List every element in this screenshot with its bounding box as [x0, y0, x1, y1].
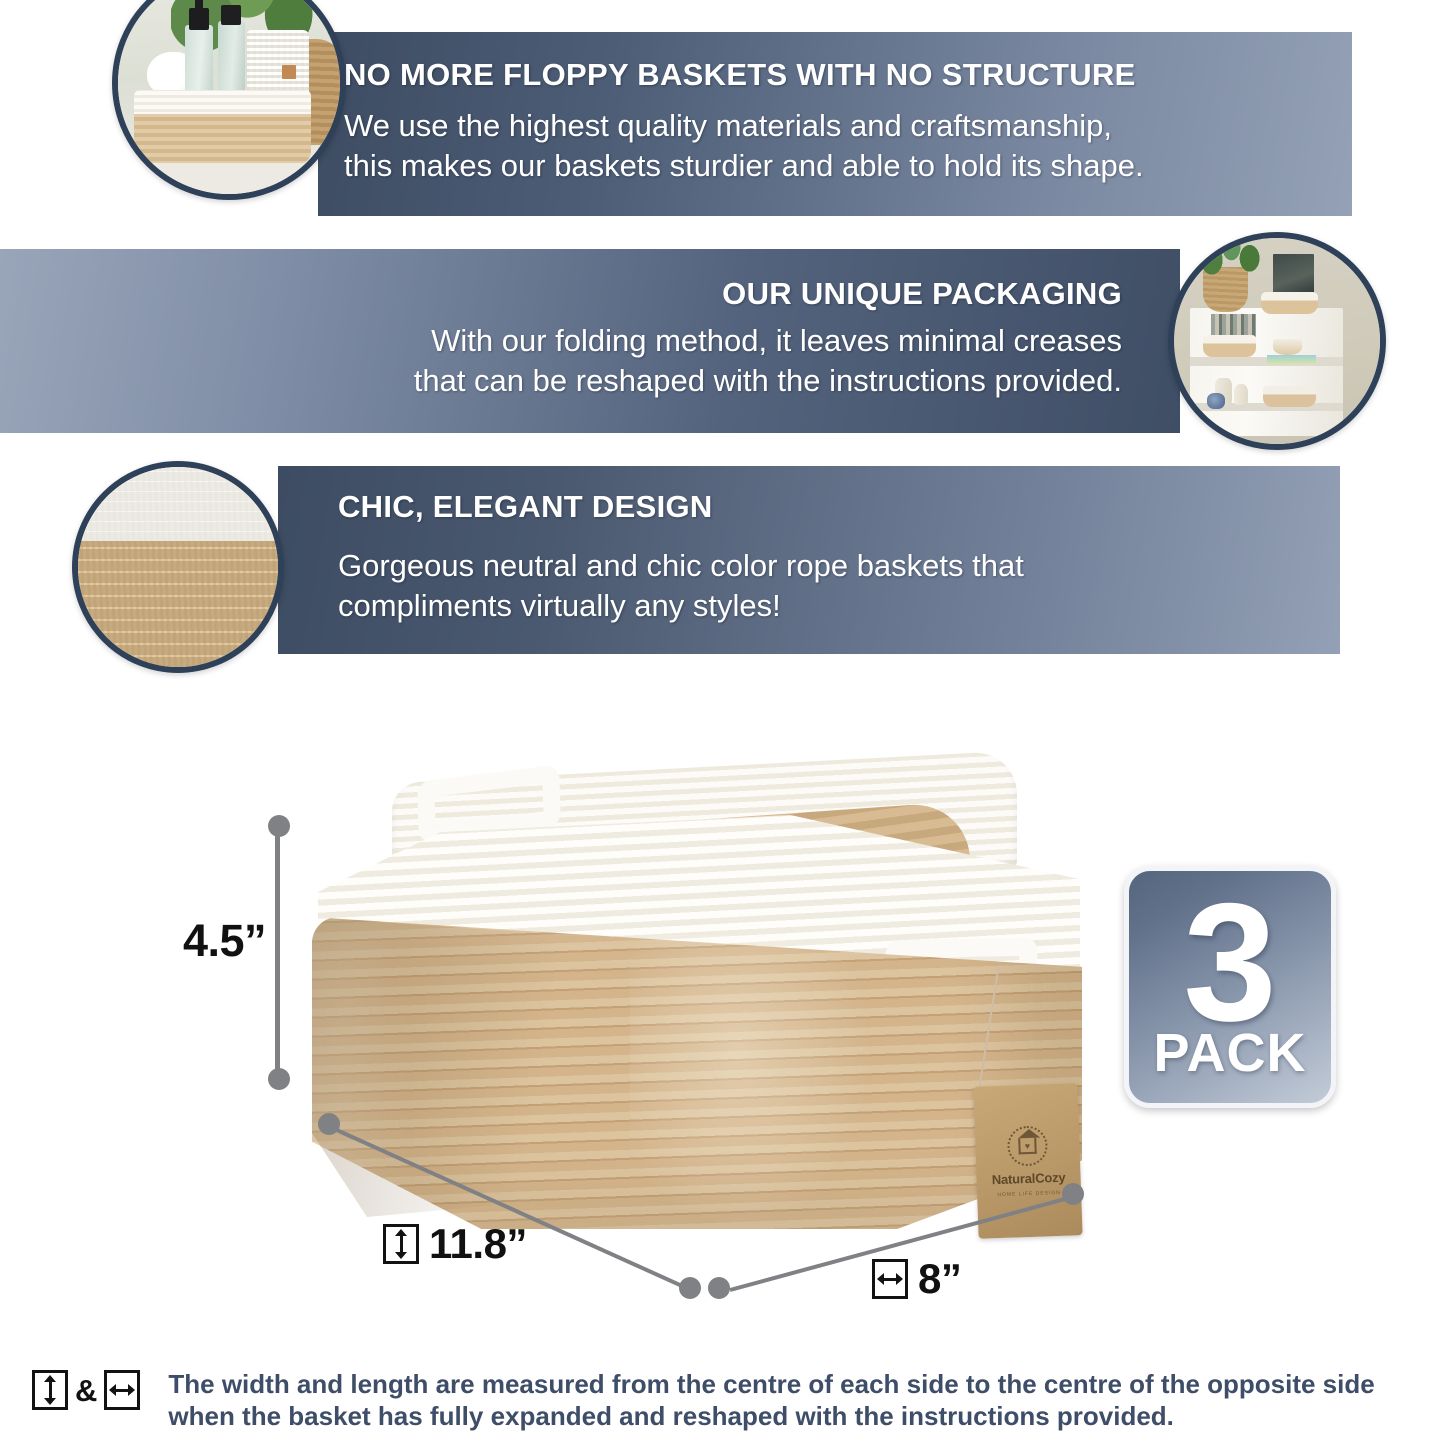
feature-banner-3: CHIC, ELEGANT DESIGN Gorgeous neutral an… — [278, 466, 1340, 654]
feature-3-title: CHIC, ELEGANT DESIGN — [338, 490, 713, 524]
brand-logo-icon: ♥ — [1007, 1125, 1048, 1166]
pack-count-number: 3 — [1183, 894, 1276, 1032]
height-label: 4.5” — [183, 915, 266, 967]
length-endpoint-right — [679, 1277, 701, 1299]
feature-banners-section: NO MORE FLOPPY BASKETS WITH NO STRUCTURE… — [0, 0, 1445, 675]
vertical-arrow-icon — [383, 1224, 419, 1264]
feature-3-body-line-2: compliments virtually any styles! — [338, 586, 1024, 626]
small-rope-bowl — [1273, 339, 1302, 355]
width-label: 8” — [872, 1255, 961, 1303]
height-endpoint-top — [268, 815, 290, 837]
white-rope-section — [78, 467, 278, 541]
bathroom-basket-photo — [112, 0, 346, 200]
feature-2-body-line-2: that can be reshaped with the instructio… — [414, 361, 1122, 401]
rope-texture-photo — [72, 461, 284, 673]
stacked-magazines — [1267, 355, 1316, 363]
shelf-styling-photo — [1168, 232, 1386, 450]
counter-surface — [118, 163, 340, 194]
hang-tag: ♥ NaturalCozy HOME LIFE DESIGN — [973, 1083, 1082, 1239]
feature-3-body: Gorgeous neutral and chic color rope bas… — [338, 546, 1024, 625]
feature-2-body: With our folding method, it leaves minim… — [414, 321, 1122, 400]
disclaimer-line-1: The width and length are measured from t… — [168, 1368, 1374, 1400]
feature-1-title: NO MORE FLOPPY BASKETS WITH NO STRUCTURE — [344, 58, 1136, 92]
books-in-basket — [1211, 314, 1256, 337]
soap-dispenser-bottle — [185, 25, 214, 96]
basket-body-shadow — [312, 917, 562, 1217]
basket-body-highlight — [630, 935, 870, 1225]
rope-basket-top-shelf — [1261, 292, 1319, 315]
width-value: 8” — [918, 1255, 961, 1303]
height-endpoint-bottom — [268, 1068, 290, 1090]
feature-banner-1: NO MORE FLOPPY BASKETS WITH NO STRUCTURE… — [318, 32, 1352, 216]
white-waffle-towel — [247, 30, 309, 97]
length-value: 11.8” — [429, 1220, 527, 1268]
lotion-bottle-cap — [221, 5, 241, 25]
house-icon: ♥ — [1018, 1137, 1037, 1154]
pack-count-badge: 3 PACK — [1124, 866, 1336, 1108]
tan-rope-section — [78, 541, 278, 667]
feature-1-body-line-1: We use the highest quality materials and… — [344, 106, 1144, 146]
basket-white-rim — [134, 90, 312, 117]
brand-tagline: HOME LIFE DESIGN — [997, 1189, 1061, 1197]
brand-name: NaturalCozy — [992, 1169, 1066, 1187]
feature-2-body-line-1: With our folding method, it leaves minim… — [414, 321, 1122, 361]
towel-leather-tag — [282, 65, 295, 78]
soap-pump — [195, 0, 204, 16]
height-measurement-line — [275, 827, 280, 1077]
plant-leaves — [1195, 234, 1265, 279]
blue-patterned-jug — [1207, 393, 1226, 409]
vertical-arrow-icon — [32, 1370, 68, 1410]
length-label: 11.8” — [383, 1220, 527, 1268]
horizontal-arrow-icon — [872, 1259, 908, 1299]
ampersand-label: & — [75, 1375, 97, 1406]
feature-2-title: OUR UNIQUE PACKAGING — [722, 277, 1122, 311]
lotion-bottle — [218, 21, 245, 96]
horizontal-arrow-icon — [104, 1370, 140, 1410]
rope-basket-bottom-shelf — [1263, 386, 1317, 407]
disclaimer-line-2: when the basket has fully expanded and r… — [168, 1400, 1374, 1432]
basket-tan-body — [134, 114, 312, 165]
height-value: 4.5” — [183, 915, 266, 967]
measurement-disclaimer: & The width and length are measured from… — [0, 1362, 1445, 1432]
book-on-top-shelf — [1273, 254, 1314, 293]
rope-basket-middle-shelf — [1203, 335, 1257, 358]
disclaimer-text: The width and length are measured from t… — [154, 1366, 1374, 1432]
length-endpoint-left — [318, 1113, 340, 1135]
pack-count-word: PACK — [1153, 1026, 1306, 1080]
feature-3-body-line-1: Gorgeous neutral and chic color rope bas… — [338, 546, 1024, 586]
ceramic-vase-short — [1234, 384, 1248, 405]
width-endpoint-right — [1062, 1183, 1084, 1205]
measurement-icon-group: & — [32, 1366, 140, 1410]
feature-banner-2: OUR UNIQUE PACKAGING With our folding me… — [0, 249, 1180, 433]
feature-1-body: We use the highest quality materials and… — [344, 106, 1144, 185]
width-endpoint-left — [708, 1277, 730, 1299]
heart-icon: ♥ — [1025, 1141, 1031, 1150]
feature-1-body-line-2: this makes our baskets sturdier and able… — [344, 146, 1144, 186]
